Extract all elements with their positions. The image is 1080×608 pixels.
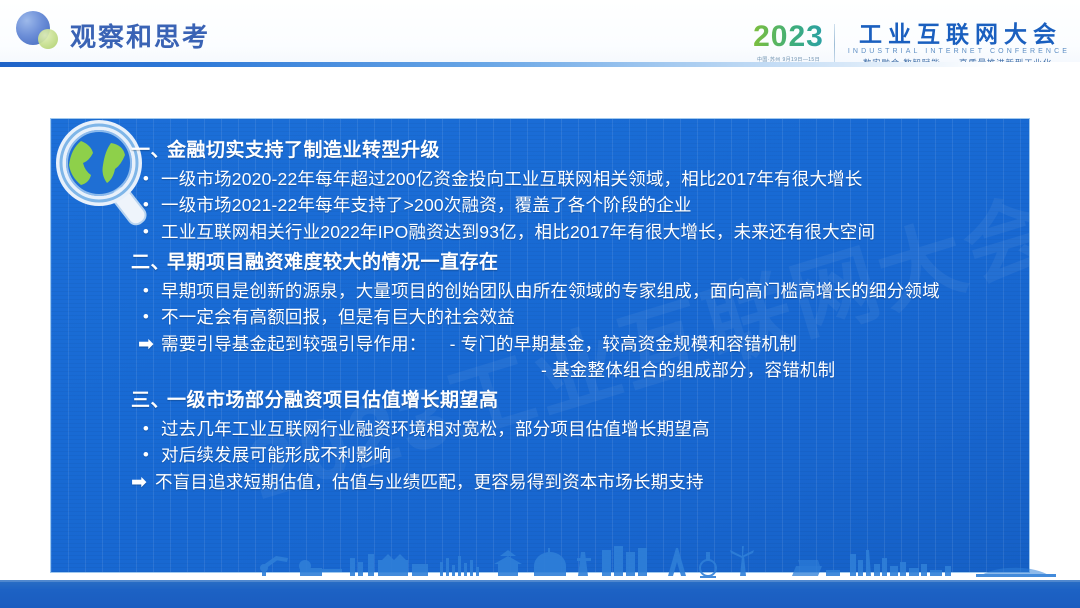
list-item-highlight: ➡ 不盲目追求短期估值，估值与业绩匹配，更容易得到资本市场长期支持 bbox=[131, 469, 1011, 497]
list-item-text: 一级市场2020-22年每年超过200亿资金投向工业互联网相关领域，相比2017… bbox=[161, 166, 1011, 193]
section-3-bullets: • 过去几年工业互联网行业融资环境相对宽松，部分项目估值增长期望高 • 对后续发… bbox=[131, 416, 1011, 497]
logo-divider bbox=[834, 24, 835, 65]
page-title: 观察和思考 bbox=[70, 17, 210, 54]
footer-band bbox=[0, 580, 1080, 608]
section-3-number: 三、 bbox=[131, 387, 167, 416]
list-item: • 过去几年工业互联网行业融资环境相对宽松，部分项目估值增长期望高 bbox=[131, 416, 1011, 443]
section-3-title: 一级市场部分融资项目估值增长期望高 bbox=[167, 387, 499, 416]
list-item: • 早期项目是创新的源泉，大量项目的创始团队由所在领域的专家组成，面向高门槛高增… bbox=[131, 278, 1011, 305]
bullet-dot-icon: • bbox=[131, 416, 161, 442]
list-item: • 工业互联网相关行业2022年IPO融资达到93亿，相比2017年有很大增长，… bbox=[131, 219, 1011, 246]
list-item: • 对后续发展可能形成不利影响 bbox=[131, 442, 1011, 469]
section-2-number: 二、 bbox=[131, 249, 167, 278]
bullet-dot-icon: • bbox=[131, 278, 161, 304]
list-item-text: 不盲目追求短期估值，估值与业绩匹配，更容易得到资本市场长期支持 bbox=[155, 469, 1011, 496]
bullet-dot-icon: • bbox=[131, 219, 161, 245]
section-3-heading: 三、 一级市场部分融资项目估值增长期望高 bbox=[131, 387, 1011, 416]
list-item-text: 对后续发展可能形成不利影响 bbox=[161, 442, 1011, 469]
slide-header: 观察和思考 2023 中国·苏州 9月19日—15日 工业互联网大会 INDUS… bbox=[0, 0, 1080, 66]
list-item-subtext-1: - 专门的早期基金，较高资金规模和容错机制 bbox=[450, 331, 797, 358]
arrow-right-icon: ➡ bbox=[131, 469, 155, 497]
list-item: • 不一定会有高额回报，但是有巨大的社会效益 bbox=[131, 304, 1011, 331]
list-item: • 一级市场2021-22年每年支持了>200次融资，覆盖了各个阶段的企业 bbox=[131, 192, 1011, 219]
conference-year-block: 2023 中国·苏州 9月19日—15日 bbox=[753, 22, 834, 63]
section-1-heading: 一、 金融切实支持了制造业转型升级 bbox=[131, 137, 1011, 166]
list-item-text: 需要引导基金起到较强引导作用： bbox=[161, 334, 427, 354]
section-2-bullets: • 早期项目是创新的源泉，大量项目的创始团队由所在领域的专家组成，面向高门槛高增… bbox=[131, 278, 1011, 383]
list-item-subtext-2: - 基金整体组合的组成部分，容错机制 bbox=[161, 357, 1011, 384]
logo-leaf-shape bbox=[38, 29, 58, 49]
list-item: • 一级市场2020-22年每年超过200亿资金投向工业互联网相关领域，相比20… bbox=[131, 166, 1011, 193]
section-1-title: 金融切实支持了制造业转型升级 bbox=[167, 137, 440, 166]
section-3: 三、 一级市场部分融资项目估值增长期望高 • 过去几年工业互联网行业融资环境相对… bbox=[131, 387, 1011, 496]
list-item-text: 不一定会有高额回报，但是有巨大的社会效益 bbox=[161, 304, 1011, 331]
conference-title-cn: 工业互联网大会 bbox=[845, 22, 1070, 46]
bullet-dot-icon: • bbox=[131, 166, 161, 192]
arrow-right-icon: ➡ bbox=[131, 331, 161, 359]
list-item-text: 一级市场2021-22年每年支持了>200次融资，覆盖了各个阶段的企业 bbox=[161, 192, 1011, 219]
list-item-highlight: ➡ 需要引导基金起到较强引导作用： - 专门的早期基金，较高资金规模和容错机制 … bbox=[131, 331, 1011, 383]
content-panel: 2023工业互联网大会 一、 金融切实支持了制造业转型升级 • bbox=[50, 118, 1030, 573]
section-2-title: 早期项目融资难度较大的情况一直存在 bbox=[167, 249, 499, 278]
bullet-dot-icon: • bbox=[131, 304, 161, 330]
list-item-text: 过去几年工业互联网行业融资环境相对宽松，部分项目估值增长期望高 bbox=[161, 416, 1011, 443]
list-item-text-group: 需要引导基金起到较强引导作用： - 专门的早期基金，较高资金规模和容错机制 - … bbox=[161, 331, 1011, 383]
brand-logo-icon bbox=[16, 11, 62, 53]
section-1-bullets: • 一级市场2020-22年每年超过200亿资金投向工业互联网相关领域，相比20… bbox=[131, 166, 1011, 246]
conference-title-en: INDUSTRIAL INTERNET CONFERENCE bbox=[845, 48, 1070, 55]
bullet-dot-icon: • bbox=[131, 192, 161, 218]
header-divider bbox=[0, 62, 1080, 67]
industrial-city-skyline-icon bbox=[0, 546, 1080, 580]
conference-year: 2023 bbox=[753, 22, 824, 52]
section-1-number: 一、 bbox=[131, 137, 167, 166]
section-2-heading: 二、 早期项目融资难度较大的情况一直存在 bbox=[131, 249, 1011, 278]
bullet-dot-icon: • bbox=[131, 442, 161, 468]
list-item-text: 工业互联网相关行业2022年IPO融资达到93亿，相比2017年有很大增长，未来… bbox=[161, 219, 1011, 246]
slide: 观察和思考 2023 中国·苏州 9月19日—15日 工业互联网大会 INDUS… bbox=[0, 0, 1080, 608]
panel-content: 一、 金融切实支持了制造业转型升级 • 一级市场2020-22年每年超过200亿… bbox=[51, 119, 1029, 496]
list-item-text: 早期项目是创新的源泉，大量项目的创始团队由所在领域的专家组成，面向高门槛高增长的… bbox=[161, 278, 1011, 305]
section-1: 一、 金融切实支持了制造业转型升级 • 一级市场2020-22年每年超过200亿… bbox=[131, 137, 1011, 245]
section-2: 二、 早期项目融资难度较大的情况一直存在 • 早期项目是创新的源泉，大量项目的创… bbox=[131, 249, 1011, 383]
